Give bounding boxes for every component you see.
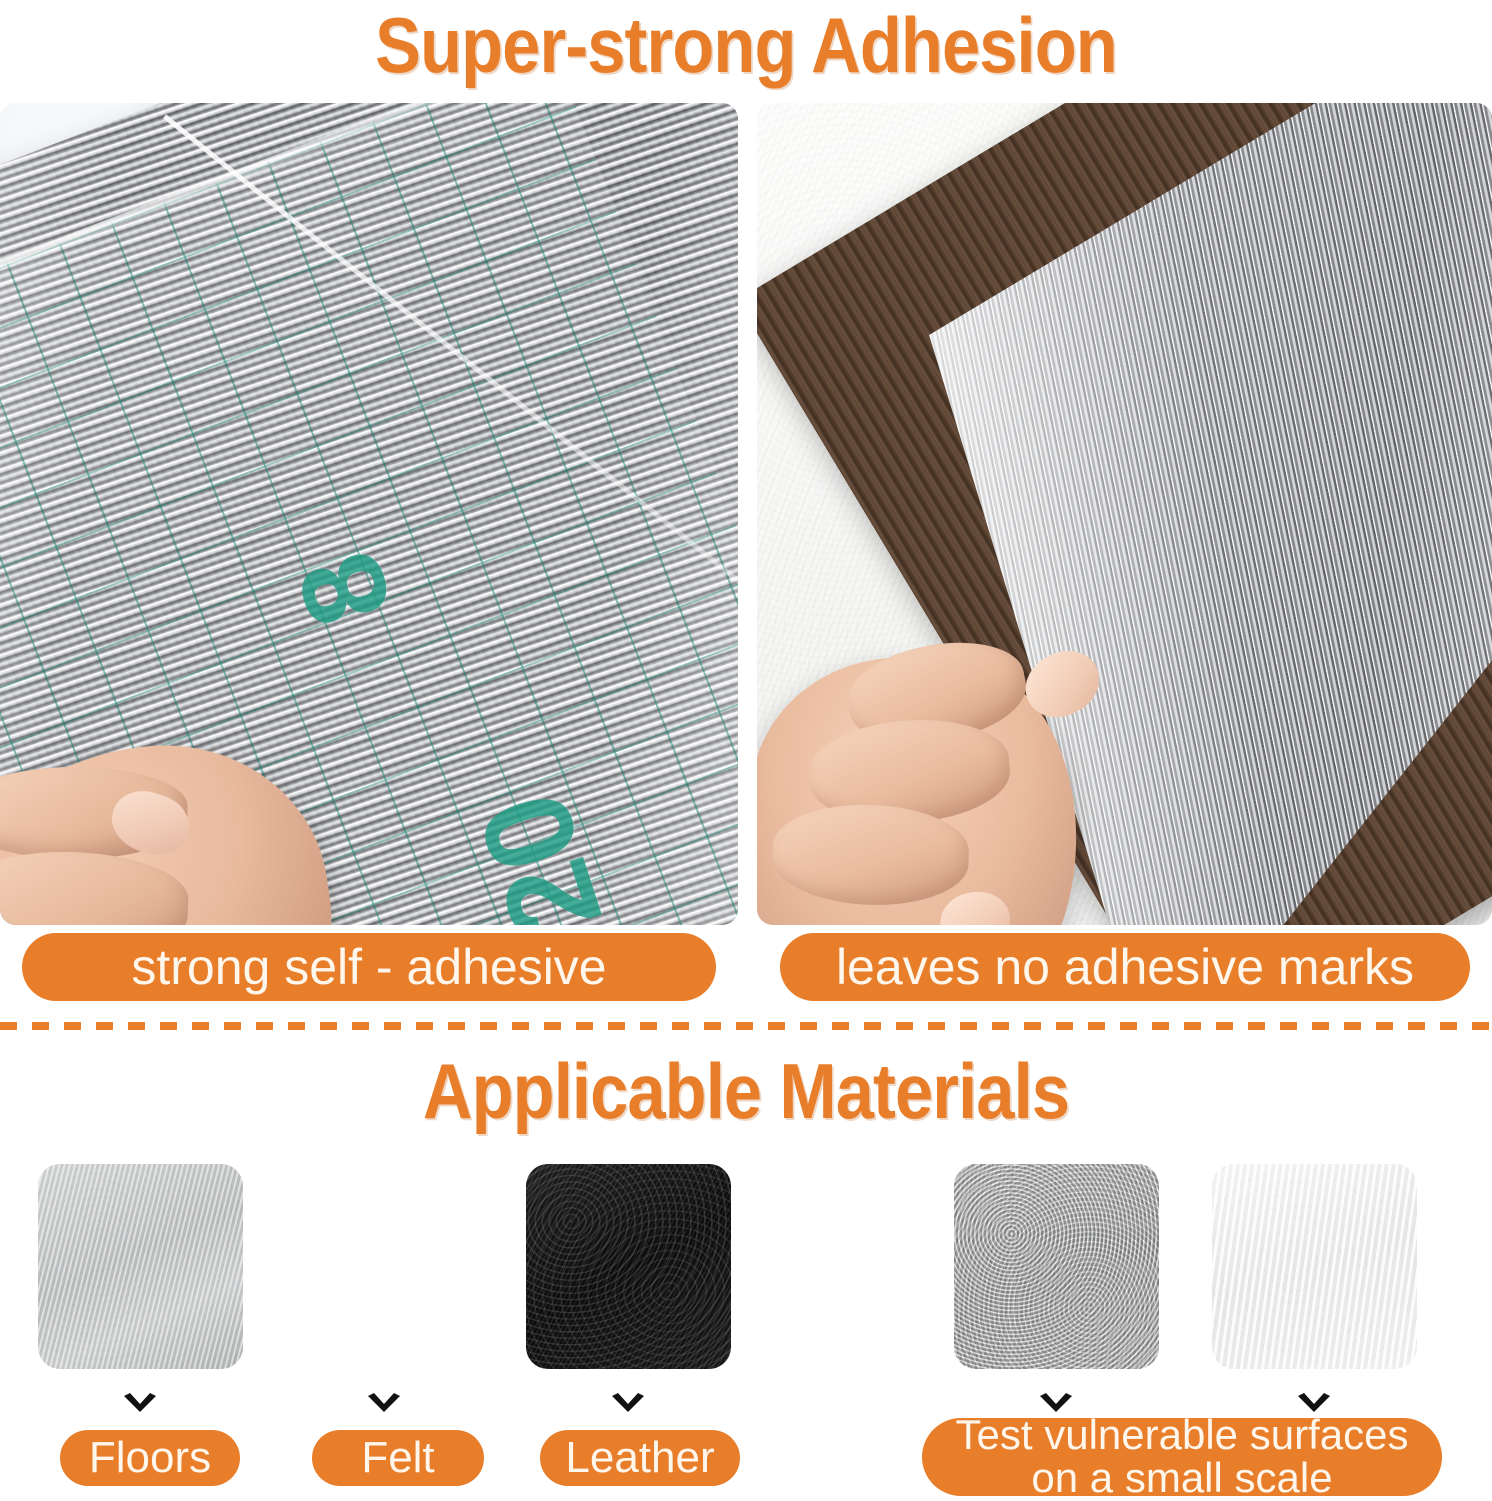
chevron-down-icon [364,1392,404,1420]
material-swatch-felt [282,1164,487,1369]
material-label-felt: Felt [312,1430,484,1486]
caption-pill-leaves-no-adhesive-marks: leaves no adhesive marks [780,933,1470,1001]
dashed-divider [0,1022,1492,1030]
material-swatch-floors [38,1164,243,1369]
peeling-release-liner-photo: 8 20 [0,103,738,925]
finger [0,767,187,859]
chevron-down-icon [120,1392,160,1420]
fingernail [104,782,197,863]
page-title-materials: Applicable Materials [90,1052,1403,1130]
material-swatch-leather [526,1164,731,1369]
material-swatch-plaster [1212,1164,1417,1369]
material-warning-label-test-small-scale: Test vulnerable surfaces on a small scal… [922,1418,1442,1496]
caption-pill-strong-self-adhesive: strong self - adhesive [22,933,716,1001]
fingernail [936,887,1015,925]
lifting-mat-off-wall-photo [757,103,1492,925]
page-title-adhesion: Super-strong Adhesion [90,6,1403,84]
material-label-leather: Leather [540,1430,740,1486]
material-swatch-stucco [954,1164,1159,1369]
finger [0,848,190,925]
material-label-floors: Floors [60,1430,240,1486]
chevron-down-icon [608,1392,648,1420]
